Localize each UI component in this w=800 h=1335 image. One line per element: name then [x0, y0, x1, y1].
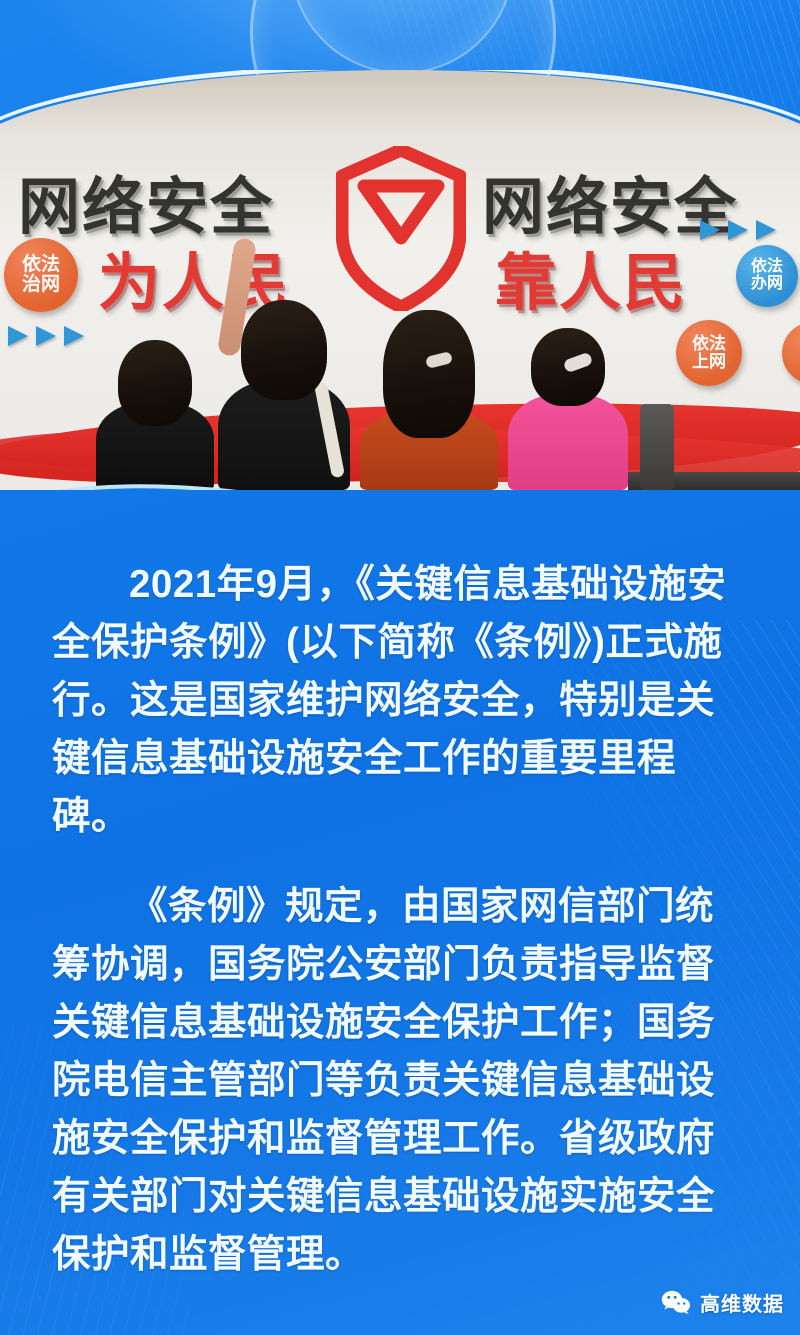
poster-root: 网络安全 为人民 网络安全 靠人民 依法 治网 依法 办网 依法 上网 — [0, 0, 800, 1335]
blue-wave-overlay — [0, 430, 800, 490]
article-paragraph-1: 2021年9月，《关键信息基础设施安全保护条例》(以下简称《条例》)正式施行。这… — [52, 556, 752, 846]
article-body: 2021年9月，《关键信息基础设施安全保护条例》(以下简称《条例》)正式施行。这… — [52, 556, 752, 1284]
wechat-icon — [661, 1290, 691, 1316]
watermark: 高维数据 — [661, 1288, 784, 1317]
wall-arc-outline — [0, 70, 800, 490]
watermark-label: 高维数据 — [700, 1288, 784, 1317]
glow-ring-inner — [290, 0, 514, 74]
article-paragraph-2: 《条例》规定，由国家网信部门统筹协调，国务院公安部门负责指导监督关键信息基础设施… — [52, 878, 752, 1284]
header-photo: 网络安全 为人民 网络安全 靠人民 依法 治网 依法 办网 依法 上网 — [0, 70, 800, 490]
